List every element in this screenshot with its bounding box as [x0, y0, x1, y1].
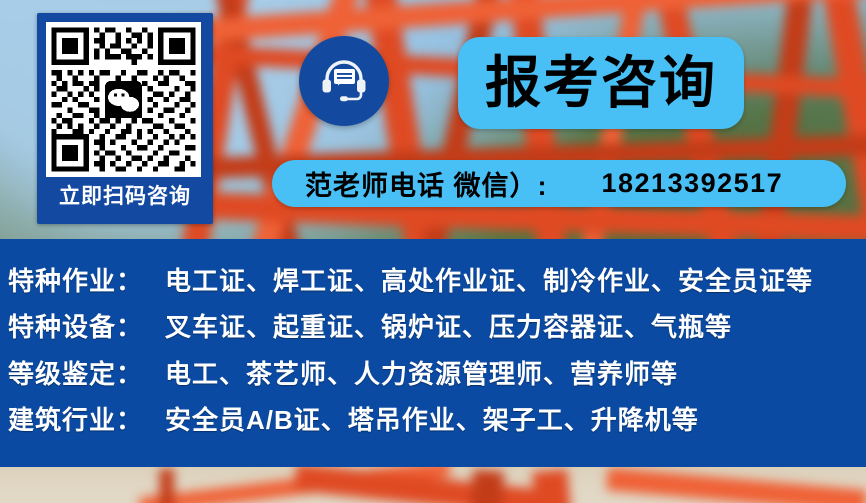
contact-phone-pill[interactable]: 范老师电话 微信）: 18213392517: [272, 160, 846, 207]
course-categories-panel: 特种作业：电工证、焊工证、高处作业证、制冷作业、安全员证等 特种设备：叉车证、起…: [0, 239, 866, 467]
promo-poster: 立即扫码咨询 报考咨询 范老师电话 微信）: 18213392517 特种作业：…: [0, 0, 866, 503]
category-items: 叉车证、起重证、锅炉证、压力容器证、气瓶等: [165, 312, 732, 342]
qr-code-card[interactable]: 立即扫码咨询: [37, 13, 213, 224]
wechat-icon: [105, 81, 142, 118]
headset-chat-icon: [299, 36, 389, 126]
contact-label: 范老师电话 微信）:: [305, 164, 548, 203]
qr-code-icon[interactable]: [46, 22, 201, 177]
category-items: 电工、茶艺师、人力资源管理师、营养师等: [165, 359, 678, 389]
category-name: 建筑行业：: [8, 405, 143, 435]
qr-caption: 立即扫码咨询: [40, 179, 210, 215]
contact-phone-number[interactable]: 18213392517: [602, 168, 784, 199]
category-name: 特种设备：: [8, 312, 143, 342]
category-items: 安全员A/B证、塔吊作业、架子工、升降机等: [165, 405, 699, 435]
category-row: 等级鉴定：电工、茶艺师、人力资源管理师、营养师等: [8, 354, 678, 391]
consult-title-label: 报考咨询: [485, 55, 717, 111]
category-name: 特种作业：: [8, 266, 143, 296]
consult-title-pill[interactable]: 报考咨询: [458, 37, 744, 129]
category-items: 电工证、焊工证、高处作业证、制冷作业、安全员证等: [165, 266, 813, 296]
category-row: 建筑行业：安全员A/B证、塔吊作业、架子工、升降机等: [8, 400, 699, 437]
category-row: 特种作业：电工证、焊工证、高处作业证、制冷作业、安全员证等: [8, 261, 813, 298]
category-name: 等级鉴定：: [8, 359, 143, 389]
category-row: 特种设备：叉车证、起重证、锅炉证、压力容器证、气瓶等: [8, 307, 732, 344]
